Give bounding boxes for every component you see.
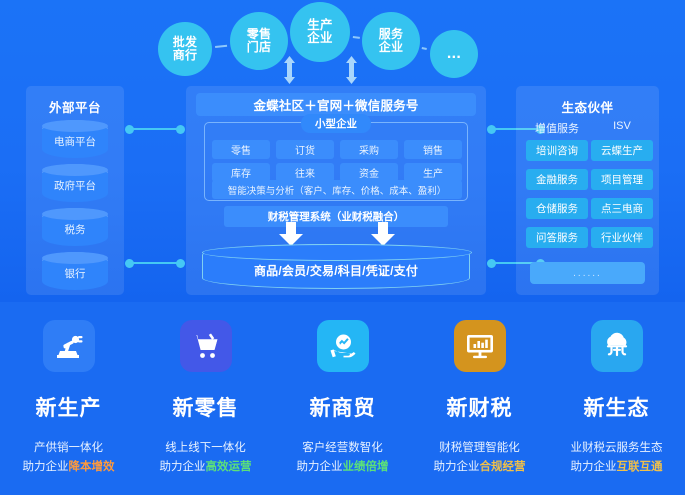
solution-card-2[interactable]: 新零售线上线下一体化助力企业高效运营 <box>137 302 274 495</box>
decision-analysis-bar: 智能决策与分析（客户、库存、价格、成本、盈利） <box>212 180 462 199</box>
customer-circle-line: 企业 <box>307 32 333 45</box>
desc-line-1: 线上线下一体化 <box>160 439 252 458</box>
module-tile[interactable]: 采购 <box>340 140 398 159</box>
solution-card-title: 新生态 <box>584 392 650 422</box>
module-tile[interactable]: 销售 <box>404 140 462 159</box>
desc-highlight: 业绩倍增 <box>343 461 389 473</box>
ecosystem-partner-panel: 生态伙伴 增值服务 ISV 培训咨询金融服务仓储服务问答服务 云蝶生产项目管理点… <box>516 86 659 295</box>
desc-line-2: 助力企业互联互通 <box>571 458 663 477</box>
data-cylinder: 商品/会员/交易/科目/凭证/支付 <box>202 244 470 289</box>
ecosystem-partner-title: 生态伙伴 <box>516 97 659 116</box>
desc-prefix: 助力企业 <box>571 461 617 473</box>
column-header-isv: ISV <box>591 120 653 132</box>
solution-cards: 新生产产供销一体化助力企业降本增效新零售线上线下一体化助力企业高效运营新商贸客户… <box>0 302 685 495</box>
solution-card-description: 业财税云服务生态助力企业互联互通 <box>571 439 663 477</box>
desc-line-2: 助力企业高效运营 <box>160 458 252 477</box>
solution-card-title: 新生产 <box>36 392 102 422</box>
desc-prefix: 助力企业 <box>160 461 206 473</box>
customer-circle-line: 生产 <box>307 19 333 32</box>
desc-highlight: 高效运营 <box>206 461 252 473</box>
desc-prefix: 助力企业 <box>23 461 69 473</box>
solution-card-title: 新商贸 <box>310 392 376 422</box>
external-platform-item[interactable]: 税务 <box>42 208 108 246</box>
cloud-network-icon <box>591 320 643 372</box>
customer-circle-line: 企业 <box>379 41 404 54</box>
external-platform-item-label: 税务 <box>65 217 86 237</box>
up-down-arrow-icon <box>345 56 358 84</box>
solution-card-description: 产供销一体化助力企业降本增效 <box>23 439 115 477</box>
connector-dot <box>125 259 134 268</box>
partner-chip[interactable]: 仓储服务 <box>526 198 588 219</box>
solution-card-title: 新零售 <box>173 392 239 422</box>
connector-dot <box>176 125 185 134</box>
partner-chip[interactable]: 云蝶生产 <box>591 140 653 161</box>
small-enterprise-label: 小型企业 <box>301 114 371 133</box>
customer-type-circles: 批发商行零售门店生产企业服务企业... <box>0 0 685 86</box>
hand-chart-icon <box>317 320 369 372</box>
customer-circle-1[interactable]: 批发商行 <box>158 22 212 76</box>
external-platform-item-label: 电商平台 <box>54 129 96 149</box>
partner-chip[interactable]: 点三电商 <box>591 198 653 219</box>
up-down-arrow-icon <box>283 56 296 84</box>
desc-line-1: 业财税云服务生态 <box>571 439 663 458</box>
external-platform-title: 外部平台 <box>26 97 124 116</box>
connector-dot <box>125 125 134 134</box>
data-cylinder-label: 商品/会员/交易/科目/凭证/支付 <box>254 255 418 279</box>
external-platform-panel: 外部平台 电商平台政府平台税务银行 <box>26 86 124 295</box>
down-arrow-icon <box>278 222 304 246</box>
desc-line-1: 财税管理智能化 <box>434 439 526 458</box>
desc-prefix: 助力企业 <box>297 461 343 473</box>
desc-highlight: 互联互通 <box>617 461 663 473</box>
circle-dashed-link <box>422 47 428 50</box>
solution-card-description: 线上线下一体化助力企业高效运营 <box>160 439 252 477</box>
partner-chip[interactable]: 问答服务 <box>526 227 588 248</box>
solution-card-description: 财税管理智能化助力企业合规经营 <box>434 439 526 477</box>
partner-chip[interactable]: 培训咨询 <box>526 140 588 161</box>
external-platform-item[interactable]: 政府平台 <box>42 164 108 202</box>
customer-circle-line: 商行 <box>173 49 198 62</box>
solution-card-5[interactable]: 新生态业财税云服务生态助力企业互联互通 <box>548 302 685 495</box>
solution-card-description: 客户经营数智化助力企业业绩倍增 <box>297 439 389 477</box>
solution-card-4[interactable]: 新财税财税管理智能化助力企业合规经营 <box>411 302 548 495</box>
external-platform-item[interactable]: 电商平台 <box>42 120 108 158</box>
desc-line-2: 助力企业业绩倍增 <box>297 458 389 477</box>
external-platform-item-label: 银行 <box>65 261 86 281</box>
connector-left-top <box>126 128 184 130</box>
solution-card-1[interactable]: 新生产产供销一体化助力企业降本增效 <box>0 302 137 495</box>
module-row-1: 零售订货采购销售 <box>212 140 462 159</box>
external-platform-item[interactable]: 银行 <box>42 252 108 290</box>
customer-circle-5[interactable]: ... <box>430 30 478 78</box>
customer-circle-line: ... <box>447 46 461 63</box>
solution-card-title: 新财税 <box>447 392 513 422</box>
down-arrow-icon <box>370 222 396 246</box>
customer-circle-line: 门店 <box>247 41 272 54</box>
architecture-diagram: 批发商行零售门店生产企业服务企业... 外部平台 电商平台政府平台税务银行 金蝶… <box>0 0 685 302</box>
partner-chip[interactable]: 行业伙伴 <box>591 227 653 248</box>
desc-highlight: 降本增效 <box>69 461 115 473</box>
customer-circle-3[interactable]: 生产企业 <box>290 2 350 62</box>
shopping-cart-icon <box>180 320 232 372</box>
partner-chip[interactable]: 项目管理 <box>591 169 653 190</box>
desc-prefix: 助力企业 <box>434 461 480 473</box>
desc-highlight: 合规经营 <box>480 461 526 473</box>
connector-left-bottom <box>126 262 184 264</box>
circle-dashed-link <box>352 36 359 39</box>
small-enterprise-box: 小型企业 零售订货采购销售 库存往来资金生产 智能决策与分析（客户、库存、价格、… <box>204 122 468 201</box>
desc-line-1: 产供销一体化 <box>23 439 115 458</box>
robot-arm-icon <box>43 320 95 372</box>
solution-card-3[interactable]: 新商贸客户经营数智化助力企业业绩倍增 <box>274 302 411 495</box>
circle-dashed-link <box>215 44 228 47</box>
connector-dot <box>176 259 185 268</box>
external-platform-item-label: 政府平台 <box>54 173 96 193</box>
customer-circle-4[interactable]: 服务企业 <box>362 12 420 70</box>
module-tile[interactable]: 订货 <box>276 140 334 159</box>
desc-line-1: 客户经营数智化 <box>297 439 389 458</box>
monitor-bar-chart-icon <box>454 320 506 372</box>
core-platform-panel: 金蝶社区＋官网＋微信服务号 小型企业 零售订货采购销售 库存往来资金生产 智能决… <box>186 86 486 295</box>
community-banner: 金蝶社区＋官网＋微信服务号 <box>196 93 476 116</box>
solution-cards-section: 新生产产供销一体化助力企业降本增效新零售线上线下一体化助力企业高效运营新商贸客户… <box>0 302 685 495</box>
partner-chip[interactable]: 金融服务 <box>526 169 588 190</box>
finance-tax-system-bar: 财税管理系统（业财税融合） <box>224 206 448 227</box>
desc-line-2: 助力企业合规经营 <box>434 458 526 477</box>
more-partners-chip[interactable]: ...... <box>530 262 645 284</box>
customer-circle-2[interactable]: 零售门店 <box>230 12 288 70</box>
module-tile[interactable]: 零售 <box>212 140 270 159</box>
connector-dot <box>487 259 496 268</box>
column-header-value-added: 增值服务 <box>526 120 588 136</box>
desc-line-2: 助力企业降本增效 <box>23 458 115 477</box>
connector-dot <box>487 125 496 134</box>
